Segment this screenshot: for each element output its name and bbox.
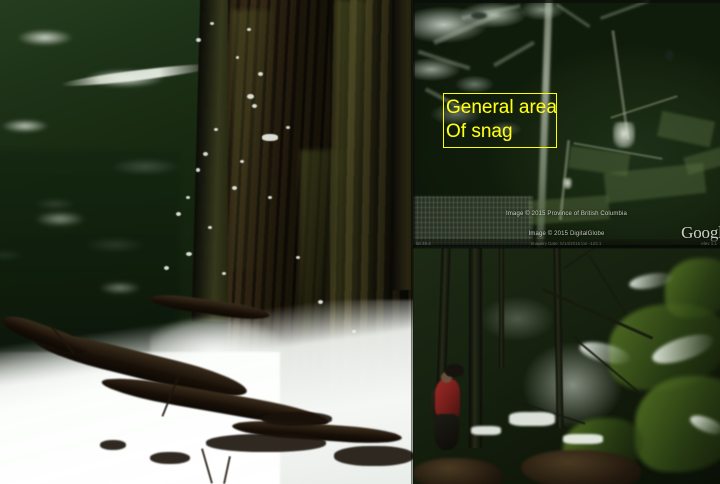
panel-seam-vertical [411,0,414,484]
ground-debris [206,434,326,452]
annotation-label: General area Of snag [446,96,596,144]
snow-patch-bark [262,134,278,141]
hiker-figure [431,364,471,450]
snow-fleck [214,128,218,131]
snow-patch [471,426,501,435]
ground-debris [100,440,126,450]
snow-fleck [203,152,208,156]
snow-fleck [222,272,226,275]
hiker-hat [445,364,464,377]
snow-fleck [286,126,290,129]
snow-fleck [176,212,181,216]
attribution-province: Image © 2015 Province of British Columbi… [413,211,720,217]
snow-fleck [247,94,254,99]
snow-patch [563,434,603,444]
attribution-digitalglobe: Image © 2015 DigitalGlobe [413,231,720,237]
inset-top-edge [413,0,720,3]
ground-debris [150,452,190,464]
mossy-bough [665,258,720,318]
snow-fleck [210,22,214,25]
hiker-photo-trunk [499,248,504,368]
snow-fleck [196,38,201,42]
clearing-patch [563,178,572,189]
snow-fleck [268,196,272,199]
snow-fleck [296,256,300,259]
small-lake [471,12,487,19]
snow-fleck [196,168,200,172]
snow-fleck [186,252,192,256]
ground-debris [334,446,414,466]
snow-fleck [240,160,244,163]
small-lake [665,50,674,61]
panel-seam-horizontal [413,245,720,249]
snow-fleck [164,266,169,270]
composite-image: General area Of snag Image © 2015 Provin… [0,0,720,484]
snow-fleck [186,196,190,199]
hiker-red-jacket [435,379,460,419]
hiker-forest-photo [413,248,720,484]
snow-fleck [236,56,239,59]
snow-fleck [258,72,263,76]
ground-debris [262,412,332,426]
snow-fleck [247,28,251,31]
clearing-patch [613,122,635,148]
snow-fleck [252,104,257,108]
snow-fleck [208,226,212,229]
satellite-inset: General area Of snag Image © 2015 Provin… [413,0,720,248]
snow-fleck [232,186,237,190]
hiker-legs [435,414,459,450]
snow-patch [509,412,555,426]
